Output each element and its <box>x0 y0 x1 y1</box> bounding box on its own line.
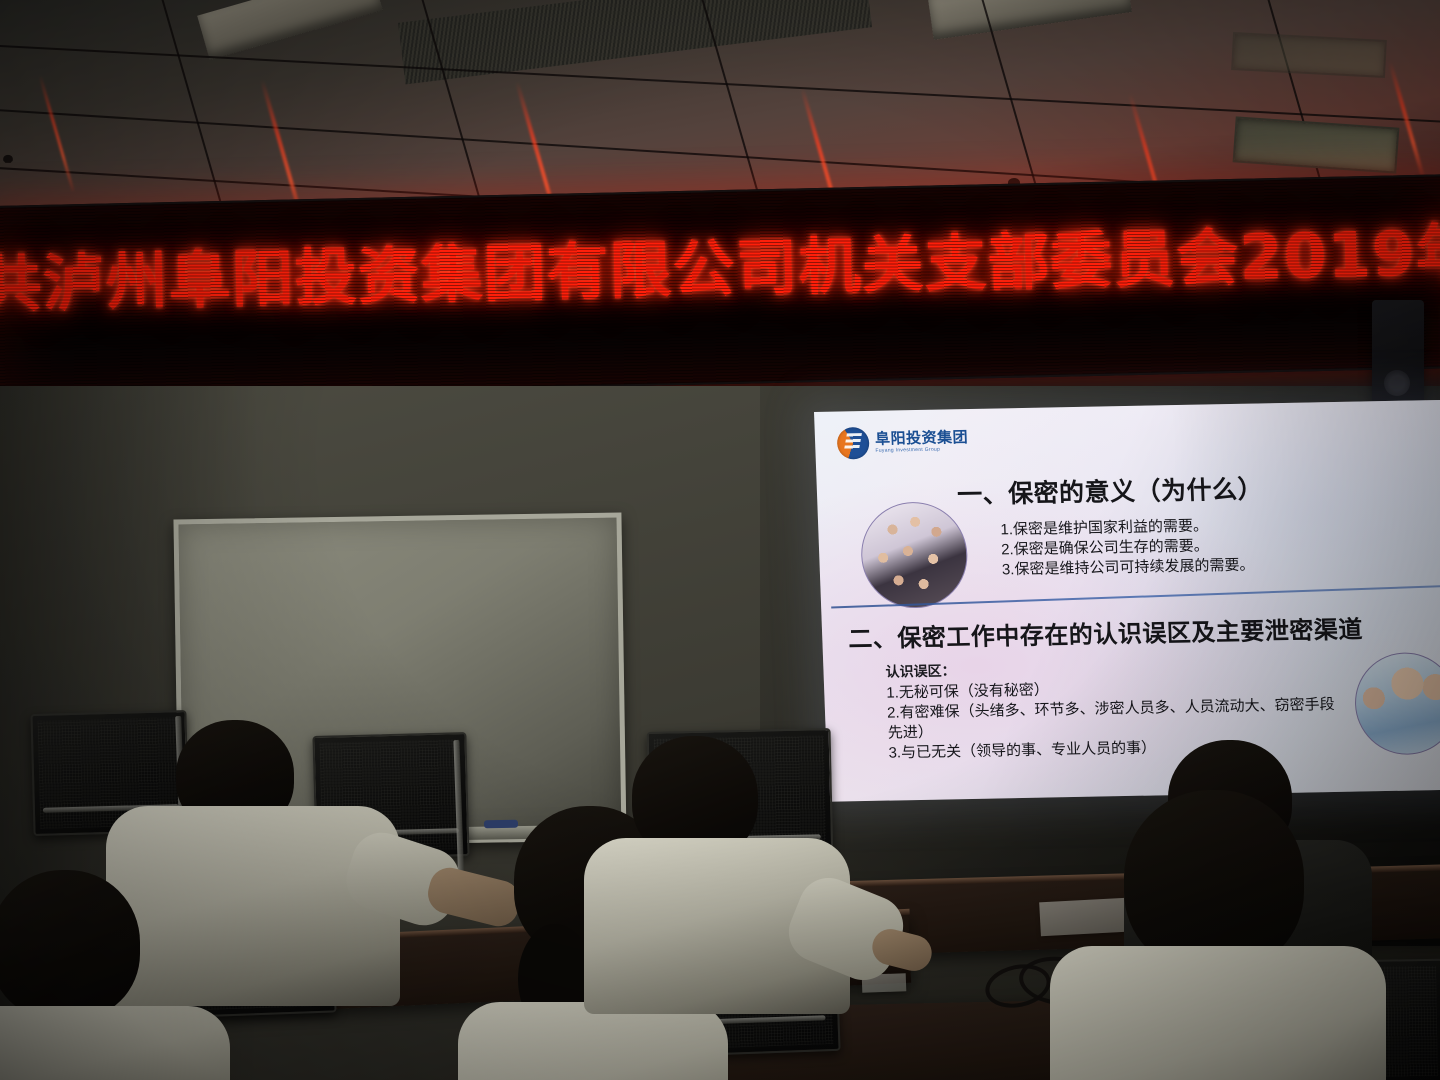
attendee-torso <box>106 806 400 1006</box>
whiteboard-marker <box>484 820 518 829</box>
led-banner-text: 共泸州阜阳投资集团有限公司机关支部委员会2019年6月固定党日 <box>0 222 1440 316</box>
ceiling-grille <box>398 0 872 84</box>
logo-text-group: 阜阳投资集团 Fuyang Investment Group <box>875 430 969 454</box>
attendee-torso <box>1050 946 1386 1080</box>
projected-slide: 阜阳投资集团 Fuyang Investment Group 一、保密的意义（为… <box>814 400 1440 802</box>
paper-on-desk <box>1039 898 1129 937</box>
slide-section-2: 二、保密工作中存在的认识误区及主要泄密渠道 认识误区： 1.无秘可保（没有秘密）… <box>822 608 1440 765</box>
ceiling-grid-line <box>0 44 1440 125</box>
section-1-list: 1.保密是维护国家利益的需要。 2.保密是确保公司生存的需要。 3.保密是维持公… <box>1000 512 1440 580</box>
ac-duct <box>197 0 383 60</box>
section-2-heading: 二、保密工作中存在的认识误区及主要泄密渠道 <box>848 608 1440 655</box>
slide-company-logo: 阜阳投资集团 Fuyang Investment Group <box>837 425 969 459</box>
sprinkler-head <box>3 155 13 162</box>
attendee-torso <box>0 1006 230 1080</box>
section-1-heading: 一、保密的意义（为什么） <box>956 466 1440 511</box>
meeting-room-photo: 共泸州阜阳投资集团有限公司机关支部委员会2019年6月固定党日 阜阳投资集团 F… <box>0 0 1440 1080</box>
logo-chinese-name: 阜阳投资集团 <box>875 430 969 448</box>
company-logo-icon <box>837 427 870 460</box>
attendee-head <box>0 870 140 1020</box>
ceiling-air-vent <box>1233 116 1400 173</box>
logo-english-name: Fuyang Investment Group <box>875 446 968 454</box>
ceiling-air-vent-upper <box>1231 32 1387 78</box>
ac-duct-secondary <box>928 0 1132 40</box>
led-scrolling-banner: 共泸州阜阳投资集团有限公司机关支部委员会2019年6月固定党日 <box>0 174 1440 400</box>
attendee-head <box>1124 790 1304 972</box>
ceiling-red-reflection <box>39 75 75 191</box>
